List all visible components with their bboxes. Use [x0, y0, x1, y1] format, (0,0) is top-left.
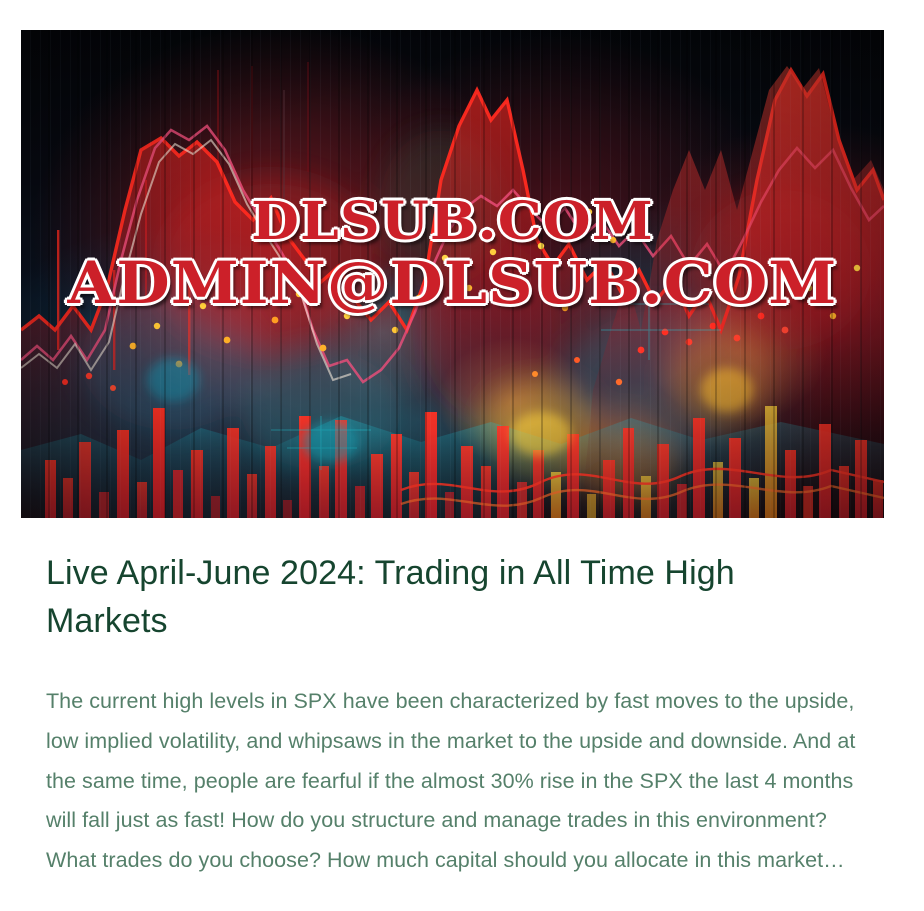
article-preview-page: DLSUB.COM ADMIN@DLSUB.COM Live April-Jun… — [0, 0, 924, 911]
article-excerpt: The current high levels in SPX have been… — [46, 646, 858, 882]
article-title[interactable]: Live April-June 2024: Trading in All Tim… — [46, 549, 858, 646]
hero-image-canvas — [21, 30, 884, 518]
hero-vertical-shadow-bands — [21, 30, 884, 518]
article-content: Live April-June 2024: Trading in All Tim… — [46, 549, 858, 881]
hero-image[interactable]: DLSUB.COM ADMIN@DLSUB.COM — [21, 30, 884, 518]
